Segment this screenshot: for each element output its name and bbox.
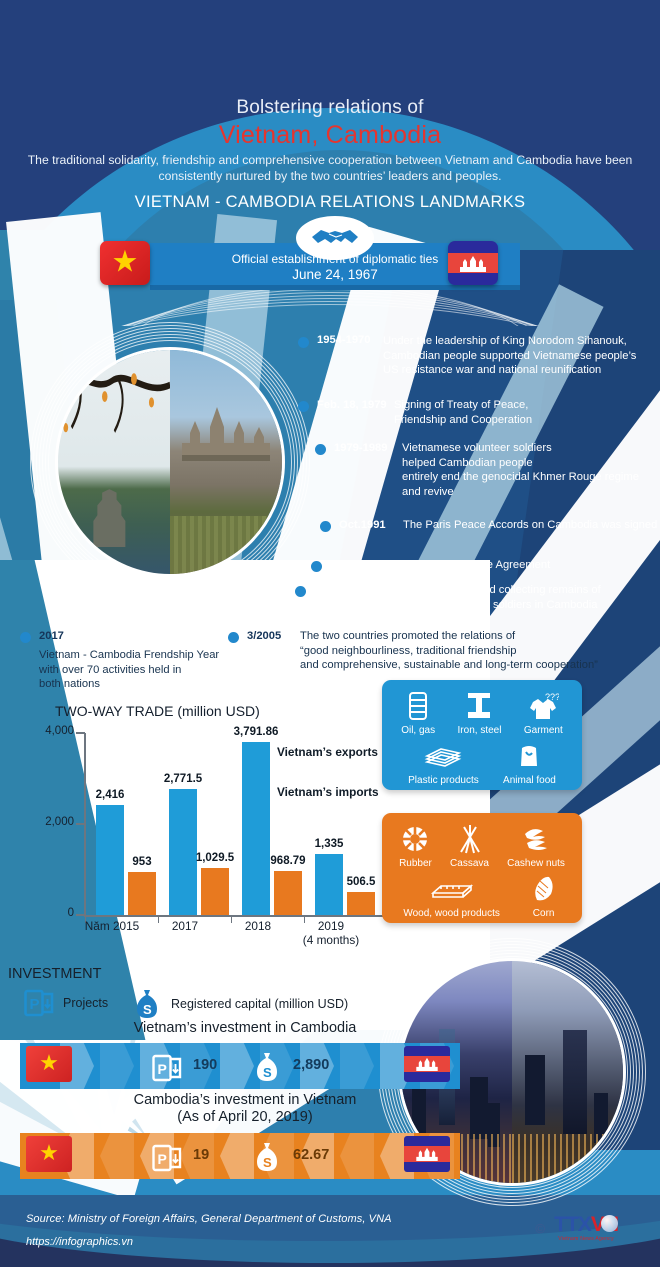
star-icon: ★ xyxy=(39,1052,59,1074)
chart-x-sublabel: (4 months) xyxy=(286,933,376,947)
projects-icon: P xyxy=(152,1143,182,1173)
timeline-dot-icon xyxy=(315,444,326,455)
feed-sack-icon xyxy=(503,738,556,774)
timeline-year: 1954-1970 xyxy=(317,334,371,346)
plastic-sheets-icon xyxy=(408,738,479,774)
copyright-symbol: © xyxy=(535,1221,545,1236)
chart-x-label: 2018 xyxy=(245,919,271,933)
commodity-item: Cassava xyxy=(450,821,489,869)
chart-y-tick-label: 0 xyxy=(28,907,74,919)
timeline-text: The Paris Peace Accords on Cambodia was … xyxy=(403,518,660,533)
star-icon: ★ xyxy=(39,1142,59,1164)
commodity-label: Cashew nuts xyxy=(507,858,565,869)
timeline-text: Under the leadership of King Norodom Sih… xyxy=(383,334,653,378)
chart-legend-label: Vietnam’s exports xyxy=(277,745,378,759)
timeline-dot-icon xyxy=(298,401,309,412)
svg-text:P: P xyxy=(158,1061,167,1077)
chart-bar xyxy=(242,742,270,915)
timeline-year: Oct.1991 xyxy=(339,519,386,531)
flow-chevron xyxy=(220,1043,254,1089)
chart-bar xyxy=(274,871,302,915)
source-text: Source: Ministry of Foreign Affairs, Gen… xyxy=(26,1213,392,1225)
flow-chevron xyxy=(340,1043,374,1089)
timeline-dot-icon xyxy=(320,521,331,532)
commodity-label: Animal food xyxy=(503,775,556,786)
svg-text:S: S xyxy=(263,1065,272,1080)
money-bag-icon: S xyxy=(132,988,162,1020)
timeline-year: Feb. 18, 1979 xyxy=(317,399,387,411)
lotus-pond xyxy=(170,516,282,574)
commodity-item: Animal food xyxy=(503,738,556,786)
landmarks-heading: VIETNAM - CAMBODIA RELATIONS LANDMARKS xyxy=(0,193,660,212)
timeline-dot-icon xyxy=(295,586,306,597)
import-commodities-box: Rubber Cassava Cashew nuts Wood, wood pr… xyxy=(382,813,582,923)
svg-text:S: S xyxy=(263,1155,272,1170)
commodity-label: Corn xyxy=(531,908,557,919)
timeline-year: 3/2005 xyxy=(247,630,281,642)
chart-x-label: Năm 2015 xyxy=(85,919,139,933)
investment-flow-heading-2: Cambodia’s investment in Vietnam (As of … xyxy=(80,1092,410,1126)
angkor-wat-silhouette xyxy=(182,399,270,461)
export-commodities-box: Oil, gas Iron, steel ??? Garment Plastic… xyxy=(382,680,582,790)
timeline-dot-icon xyxy=(311,561,322,572)
chart-bar xyxy=(201,868,229,915)
money-bag-icon: S xyxy=(252,1051,282,1083)
flow-chevron xyxy=(340,1133,374,1179)
chart-bar-value: 3,791.86 xyxy=(221,726,291,738)
ttxvn-wordmark: TTXVN xyxy=(554,1213,618,1237)
svg-text:P: P xyxy=(158,1151,167,1167)
timeline-text: Vietnam - Cambodia Frendship Year with o… xyxy=(39,648,269,692)
vietnam-flag-small-2: ★ xyxy=(26,1136,72,1172)
angkor-temple-icon xyxy=(458,255,488,272)
ttxvn-logo-blue: TTX xyxy=(554,1213,591,1236)
investment-key-label: Registered capital (million USD) xyxy=(171,997,348,1011)
page-title-line1: Bolstering relations of xyxy=(0,97,660,119)
svg-text:P: P xyxy=(30,996,40,1013)
timeline-text: Signing of Bilateral Trade Agreement xyxy=(368,558,628,573)
cassava-icon xyxy=(450,821,489,857)
rubber-tyre-icon xyxy=(399,821,432,857)
turtle-tower-silhouette xyxy=(89,489,129,547)
star-icon: ★ xyxy=(112,247,139,277)
chart-x-label: 2017 xyxy=(172,919,198,933)
timeline-text: Agreement on searching and collecting re… xyxy=(352,583,652,612)
timeline-text: The two countries promoted the relations… xyxy=(300,629,620,673)
angkor-temple-icon xyxy=(414,1147,440,1161)
money-bag-icon: S xyxy=(252,1141,282,1173)
flow-chevron xyxy=(220,1133,254,1179)
chart-x-label-group: 2019(4 months) xyxy=(286,919,376,947)
cambodia-flag xyxy=(448,241,498,285)
landmark-photo-circle xyxy=(55,347,285,577)
header-band xyxy=(0,0,660,96)
investment-flow-subheading: (As of April 20, 2019) xyxy=(177,1109,312,1125)
timeline-text: Vietnamese volunteer soldiers helped Cam… xyxy=(402,441,660,499)
cambodia-flag-small-2 xyxy=(404,1136,450,1172)
corn-icon xyxy=(531,871,557,907)
ttxvn-globe-icon xyxy=(601,1215,618,1232)
commodity-item: Oil, gas xyxy=(401,688,435,736)
chart-legend-label: Vietnam’s imports xyxy=(277,785,379,799)
timeline-dot-icon xyxy=(20,632,31,643)
investment-section-title: INVESTMENT xyxy=(8,966,101,982)
commodity-item: Corn xyxy=(531,871,557,919)
oil-barrel-icon xyxy=(401,688,435,724)
building xyxy=(470,1077,488,1139)
chart-x-label: 2019 xyxy=(318,919,344,933)
investment-key-label: Projects xyxy=(63,996,108,1010)
vietnam-flag-small: ★ xyxy=(26,1046,72,1082)
chart-y-tick xyxy=(76,732,85,734)
chart-bar-value: 953 xyxy=(107,856,177,868)
page-subtitle: The traditional solidarity, friendship a… xyxy=(18,152,642,184)
chart-bar xyxy=(128,872,156,915)
timeline-year: 2017 xyxy=(39,630,64,642)
commodity-item: Wood, wood products xyxy=(403,871,500,919)
investment-projects-value-2: 19 xyxy=(193,1147,209,1163)
ttxvn-logo: TTXVN Vietnam News Agency xyxy=(554,1213,618,1242)
angkor-temple-icon xyxy=(414,1057,440,1071)
footer-url[interactable]: https://infographics.vn xyxy=(26,1236,133,1248)
projects-icon: P xyxy=(152,1053,182,1083)
commodity-label: Cassava xyxy=(450,858,489,869)
commodity-item: Plastic products xyxy=(408,738,479,786)
phnom-penh-photo xyxy=(512,961,623,1183)
tshirt-icon: ??? xyxy=(524,688,563,724)
commodity-label: Iron, steel xyxy=(458,725,502,736)
chart-y-tick-label: 2,000 xyxy=(28,816,74,828)
steel-beam-icon xyxy=(458,688,502,724)
commodity-label: Oil, gas xyxy=(401,725,435,736)
chart-title: TWO-WAY TRADE (million USD) xyxy=(55,703,260,719)
flow-chevron xyxy=(100,1133,134,1179)
cambodia-flag-small xyxy=(404,1046,450,1082)
investment-flow-bar-kh xyxy=(20,1133,460,1179)
tree-branch-decoration xyxy=(58,350,170,466)
building xyxy=(525,1055,545,1125)
city-lights xyxy=(512,1134,623,1183)
investment-capital-value-2: 62.67 xyxy=(293,1147,329,1163)
page-title-line2: Vietnam, Cambodia xyxy=(0,121,660,150)
chart-bar-value: 2,771.5 xyxy=(148,773,218,785)
timeline-text: Signing of Treaty of Peace, Friendship a… xyxy=(394,398,644,427)
chart-y-tick-label: 4,000 xyxy=(28,725,74,737)
handshake-icon xyxy=(296,216,374,260)
investment-key-projects: P Projects xyxy=(24,988,108,1018)
chart-bar-value: 968.79 xyxy=(253,855,323,867)
timeline-year: 1979-1989 xyxy=(334,442,388,454)
angkor-wat-photo xyxy=(170,350,282,574)
timeline-year: 1998 xyxy=(330,559,355,571)
chart-bar-value: 1,335 xyxy=(294,838,364,850)
flow-chevron xyxy=(100,1043,134,1089)
import-row-1: Rubber Cassava Cashew nuts xyxy=(382,813,582,869)
chart-y-tick xyxy=(76,823,85,825)
chart-bar-value: 2,416 xyxy=(75,789,145,801)
chart-bar xyxy=(347,892,375,915)
timeline-dot-icon xyxy=(228,632,239,643)
commodity-label: Rubber xyxy=(399,858,432,869)
hanoi-turtle-tower-photo xyxy=(58,350,170,574)
chart-x-axis xyxy=(84,915,384,917)
projects-icon: P xyxy=(24,988,54,1018)
chart-bar-value: 1,029.5 xyxy=(180,852,250,864)
two-way-trade-chart: Vietnam’s exportsVietnam’s imports 02,00… xyxy=(28,727,388,942)
commodity-item: ??? Garment xyxy=(524,688,563,736)
timeline-dot-icon xyxy=(298,337,309,348)
export-row-2: Plastic products Animal food xyxy=(382,736,582,786)
commodity-item: Iron, steel xyxy=(458,688,502,736)
diplomatic-bar-shadow xyxy=(150,285,520,290)
commodity-item: Cashew nuts xyxy=(507,821,565,869)
investment-flow-heading: Vietnam’s investment in Cambodia xyxy=(80,1020,410,1037)
export-row-1: Oil, gas Iron, steel ??? Garment xyxy=(382,680,582,736)
investment-projects-value: 190 xyxy=(193,1057,217,1073)
vietnam-flag: ★ xyxy=(100,241,150,285)
investment-capital-value: 2,890 xyxy=(293,1057,329,1073)
import-row-2: Wood, wood products Corn xyxy=(382,869,582,919)
timber-icon xyxy=(403,871,500,907)
commodity-label: Plastic products xyxy=(408,775,479,786)
svg-text:S: S xyxy=(143,1002,152,1017)
commodity-item: Rubber xyxy=(399,821,432,869)
timeline-year: 2000 xyxy=(314,584,339,596)
commodity-label: Wood, wood products xyxy=(403,908,500,919)
vattanac-tower xyxy=(563,1030,587,1134)
investment-key-capital: S Registered capital (million USD) xyxy=(132,988,348,1020)
decorative-arcs xyxy=(0,286,660,326)
commodity-label: Garment xyxy=(524,725,563,736)
investment-flow-heading-text: Cambodia’s investment in Vietnam xyxy=(134,1092,357,1108)
cashew-icon xyxy=(507,821,565,857)
investment-flow-bar-vn xyxy=(20,1043,460,1089)
